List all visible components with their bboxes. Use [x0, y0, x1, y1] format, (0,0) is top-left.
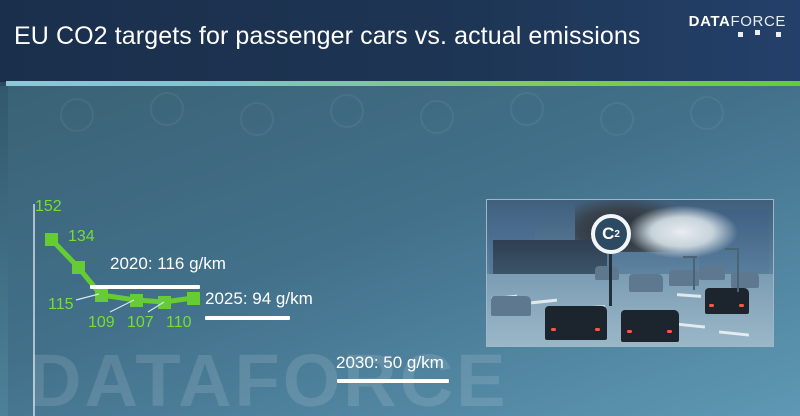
target-line-2030	[337, 379, 449, 383]
dataforce-logo: DATA FORCE	[689, 12, 786, 30]
page-title: EU CO2 targets for passenger cars vs. ac…	[14, 22, 640, 51]
photo-car	[699, 266, 725, 280]
photo-car	[705, 288, 749, 314]
target-line-2025	[205, 316, 290, 320]
photo-car	[629, 274, 663, 292]
co2-sign-text: C	[602, 224, 614, 244]
co2-sign-icon: C2	[591, 214, 631, 254]
target-label-2030: 2030: 50 g/km	[336, 353, 444, 373]
traffic-emissions-photo: C2	[486, 199, 774, 347]
photo-car	[595, 266, 619, 280]
target-label-2020: 2020: 116 g/km	[110, 254, 226, 274]
slide-body: DATAFORCE 152 134 115 109 107 110	[0, 86, 800, 416]
co2-sign-subscript: 2	[614, 229, 620, 240]
target-line-2020	[90, 285, 200, 289]
photo-car	[545, 306, 607, 340]
photo-white-smoke	[627, 206, 737, 258]
photo-car	[491, 296, 531, 316]
label-leader-lines	[0, 86, 480, 386]
slide-header: EU CO2 targets for passenger cars vs. ac…	[0, 0, 800, 82]
emissions-chart: 152 134 115 109 107 110 2020: 116 g/km 2…	[0, 86, 480, 386]
photo-car	[731, 272, 759, 288]
photo-sign-pole	[609, 254, 612, 306]
logo-dots	[702, 28, 788, 40]
target-label-2025: 2025: 94 g/km	[205, 289, 313, 309]
photo-car	[621, 310, 679, 342]
slide: EU CO2 targets for passenger cars vs. ac…	[0, 0, 800, 416]
